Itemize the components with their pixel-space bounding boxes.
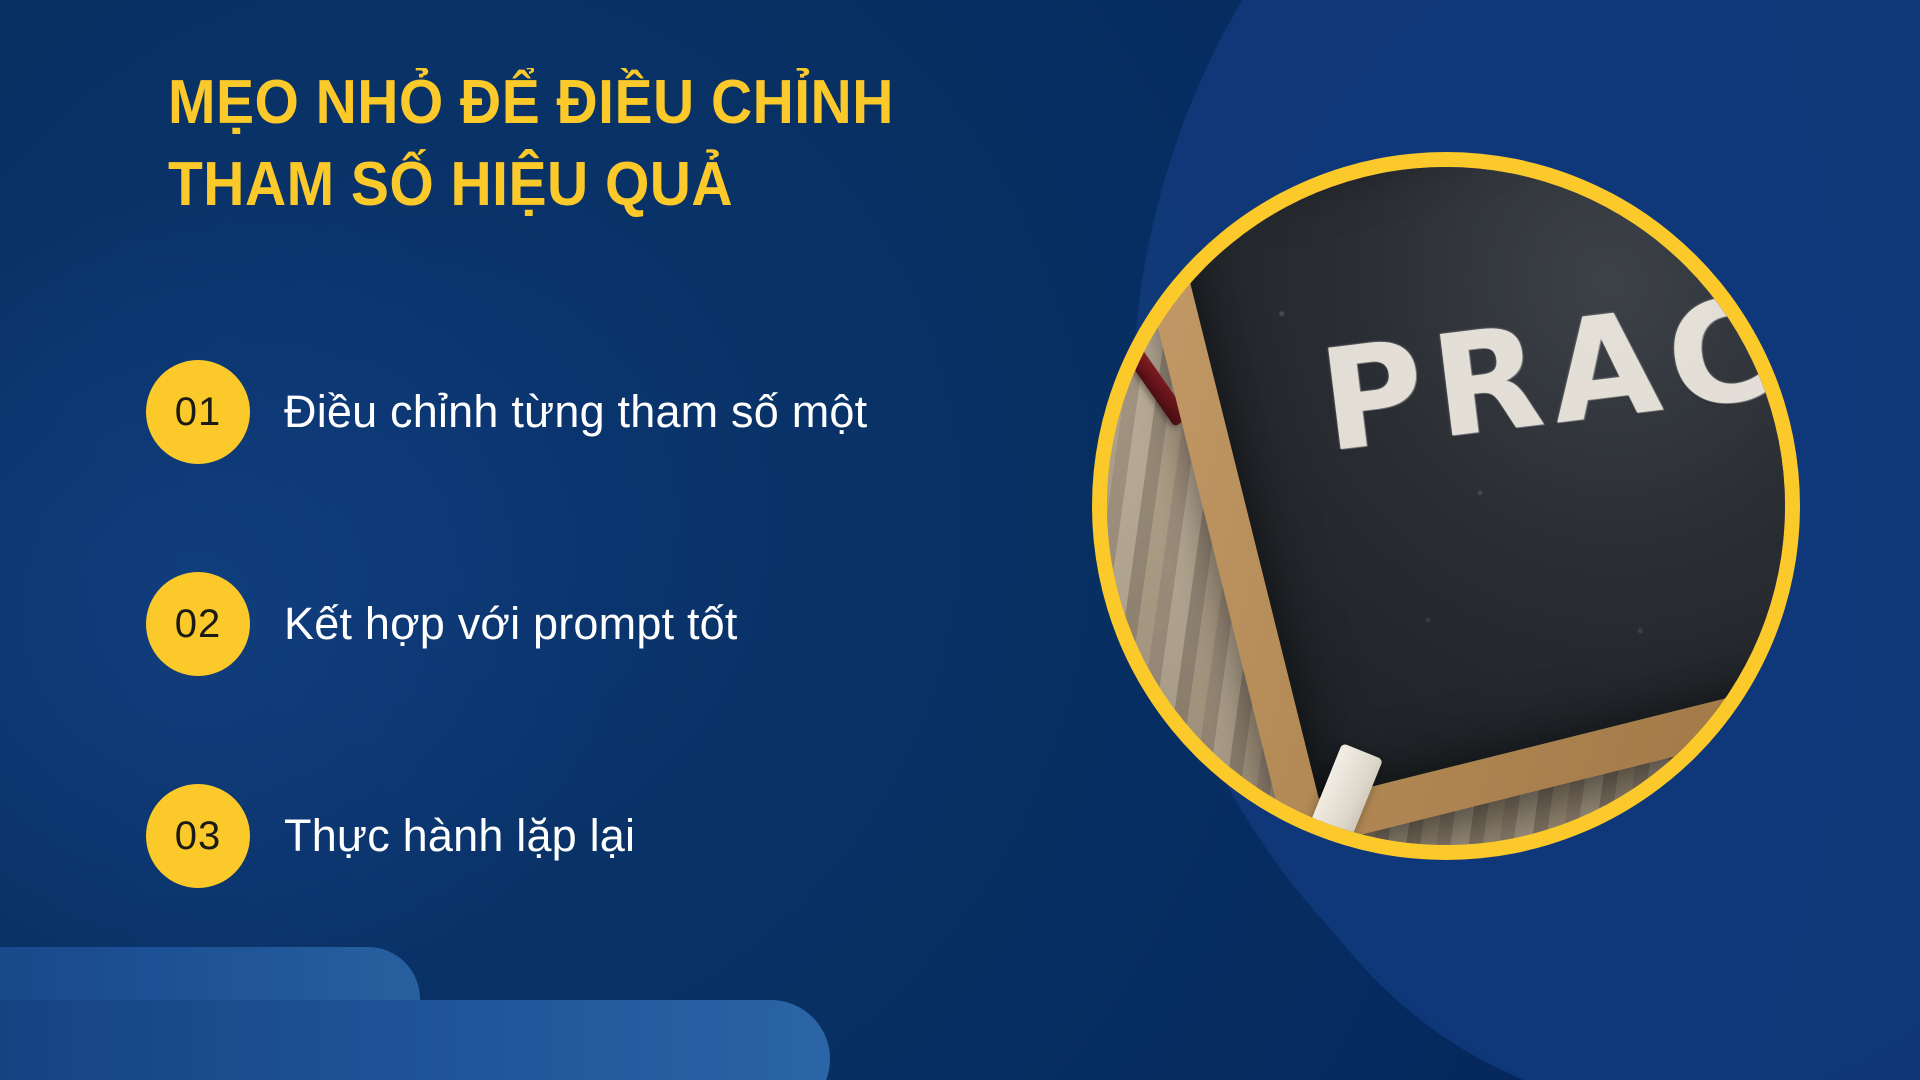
- slide-root: MẸO NHỎ ĐỂ ĐIỀU CHỈNH THAM SỐ HIỆU QUẢ 0…: [0, 0, 1920, 1080]
- page-title-line-2: THAM SỐ HIỆU QUẢ: [168, 144, 959, 226]
- chalkboard-icon: PRACTIC: [1170, 167, 1785, 800]
- list-item[interactable]: 01 Điều chỉnh từng tham số một: [146, 358, 1046, 466]
- photo-circle-frame: PRACTIC: [1092, 152, 1800, 860]
- list-item[interactable]: 03 Thực hành lặp lại: [146, 782, 1046, 890]
- page-title-line-1: MẸO NHỎ ĐỂ ĐIỀU CHỈNH: [168, 62, 959, 144]
- list-item-label: Thực hành lặp lại: [284, 810, 635, 862]
- decorative-bar-bottom: [0, 1000, 830, 1080]
- list-item-number-badge: 02: [146, 572, 250, 676]
- list-item-label: Điều chỉnh từng tham số một: [284, 386, 867, 438]
- list-item-number-badge: 03: [146, 784, 250, 888]
- list-item[interactable]: 02 Kết hợp với prompt tốt: [146, 570, 1046, 678]
- list-item-label: Kết hợp với prompt tốt: [284, 598, 738, 650]
- list-item-number-badge: 01: [146, 360, 250, 464]
- chalkboard-photo: PRACTIC: [1107, 167, 1785, 845]
- tips-list: 01 Điều chỉnh từng tham số một 02 Kết hợ…: [146, 358, 1046, 890]
- chalk-dust-texture: [1170, 167, 1785, 800]
- page-title: MẸO NHỎ ĐỂ ĐIỀU CHỈNH THAM SỐ HIỆU QUẢ: [168, 62, 959, 226]
